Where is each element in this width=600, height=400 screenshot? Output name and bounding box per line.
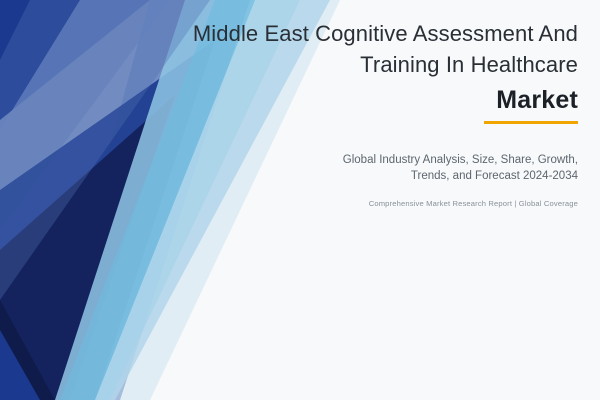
cover-text-layer: Middle East Cognitive Assessment And Tra… <box>0 0 600 400</box>
page-title-line2: Training In Healthcare <box>360 52 578 77</box>
page-title-line1: Middle East Cognitive Assessment And <box>193 21 578 46</box>
report-tagline: Comprehensive Market Research Report | G… <box>158 198 578 210</box>
accent-underline <box>484 121 578 124</box>
report-subtitle: Global Industry Analysis, Size, Share, G… <box>158 152 578 184</box>
report-subtitle-line2: Trends, and Forecast 2024-2034 <box>158 168 578 184</box>
market-heading: Market <box>98 86 578 115</box>
report-cover: Middle East Cognitive Assessment And Tra… <box>0 0 600 400</box>
page-title: Middle East Cognitive Assessment And Tra… <box>98 18 578 80</box>
report-subtitle-line1: Global Industry Analysis, Size, Share, G… <box>343 154 578 166</box>
